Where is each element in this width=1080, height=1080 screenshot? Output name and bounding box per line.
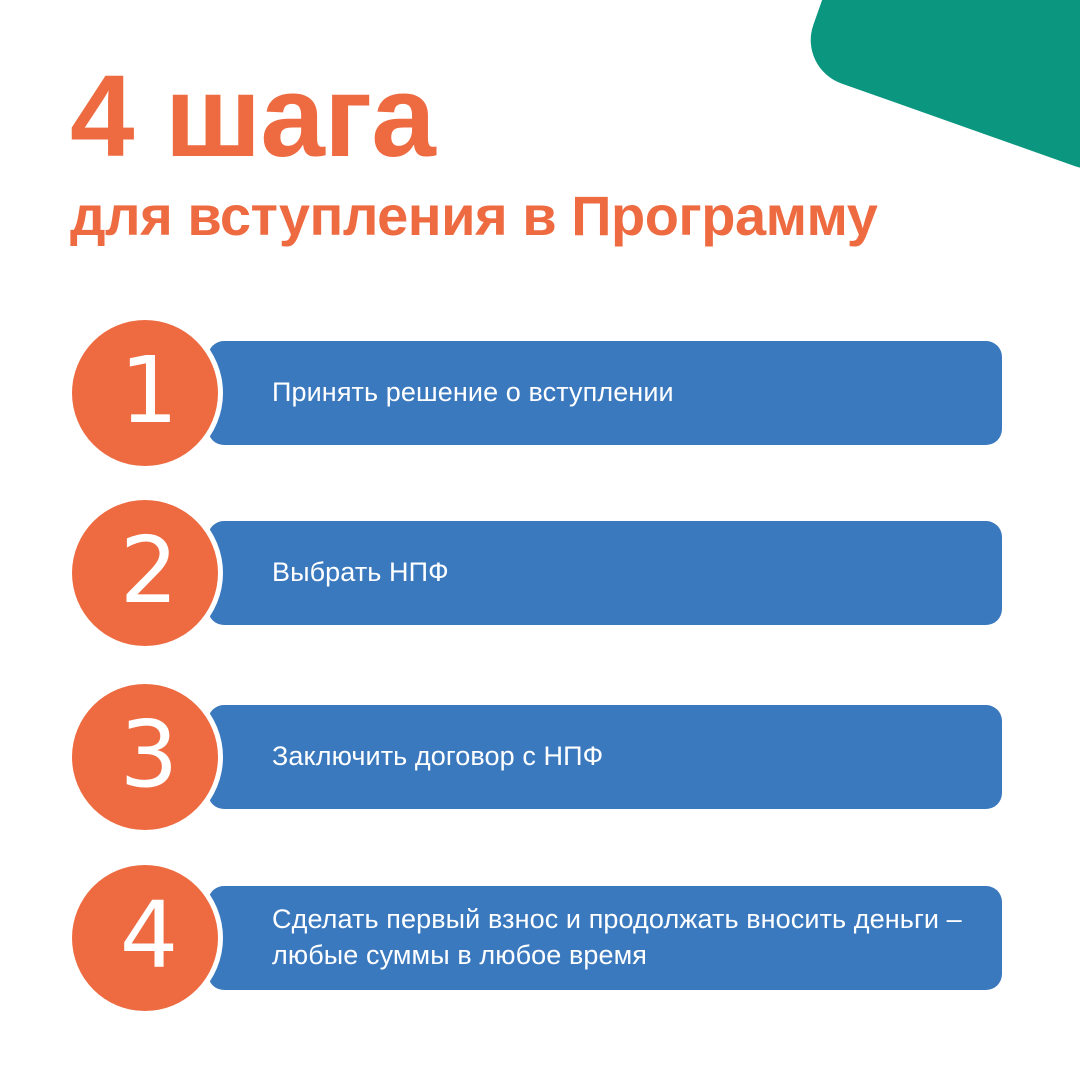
step-text-2: Выбрать НПФ [272, 555, 473, 591]
step-badge-3: 3 [72, 684, 218, 830]
step-bar-4: Сделать первый взнос и продолжать вносит… [208, 886, 1002, 990]
infographic-poster: 4 шага для вступления в Программу Принят… [0, 0, 1080, 1080]
step-number-4: 4 [112, 890, 179, 986]
step-item-1: Принять решение о вступлении 1 [72, 320, 1006, 466]
step-number-3: 3 [112, 709, 179, 805]
step-bar-1: Принять решение о вступлении [208, 341, 1002, 445]
step-text-4: Сделать первый взнос и продолжать вносит… [272, 902, 1002, 974]
step-badge-1: 1 [72, 320, 218, 466]
step-item-4: Сделать первый взнос и продолжать вносит… [72, 865, 1006, 1011]
step-item-2: Выбрать НПФ 2 [72, 500, 1006, 646]
step-number-1: 1 [112, 345, 179, 441]
step-bar-2: Выбрать НПФ [208, 521, 1002, 625]
step-text-3: Заключить договор с НПФ [272, 739, 627, 775]
step-number-2: 2 [112, 525, 179, 621]
step-item-3: Заключить договор с НПФ 3 [72, 684, 1006, 830]
step-text-1: Принять решение о вступлении [272, 375, 698, 411]
steps-list: Принять решение о вступлении 1 Выбрать Н… [0, 0, 1080, 1080]
step-bar-3: Заключить договор с НПФ [208, 705, 1002, 809]
step-badge-4: 4 [72, 865, 218, 1011]
step-badge-2: 2 [72, 500, 218, 646]
